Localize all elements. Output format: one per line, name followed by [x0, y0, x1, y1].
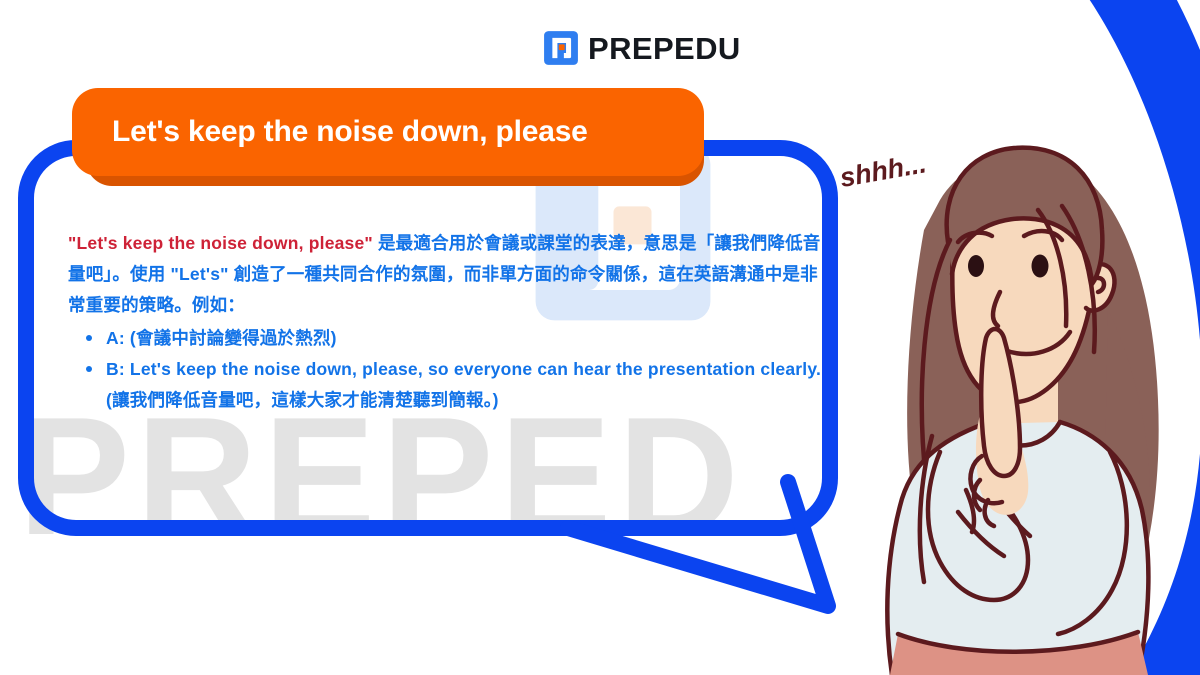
- list-item-text: A: (會議中討論變得過於熱烈): [106, 328, 337, 348]
- headline-banner: Let's keep the noise down, please: [72, 88, 704, 176]
- example-list: A: (會議中討論變得過於熱烈) B: Let's keep the noise…: [68, 323, 828, 416]
- brand-logo-text: PREPEDU: [588, 33, 741, 64]
- list-item: B: Let's keep the noise down, please, so…: [94, 354, 828, 416]
- prepedu-mark-icon: [543, 30, 579, 66]
- headline-text: Let's keep the noise down, please: [72, 117, 588, 147]
- quoted-phrase: "Let's keep the noise down, please": [68, 233, 373, 253]
- speech-bubble-tail: [560, 420, 860, 645]
- slide-canvas: PREPED Let's keep the noise down, please…: [0, 0, 1200, 675]
- list-item-text: B: Let's keep the noise down, please, so…: [106, 359, 821, 410]
- list-item: A: (會議中討論變得過於熱烈): [94, 323, 828, 354]
- bullet-dot-icon: [86, 335, 92, 341]
- brand-logo: PREPEDU: [543, 30, 741, 66]
- explanation-paragraph: "Let's keep the noise down, please" 是最適合…: [68, 228, 828, 321]
- bullet-dot-icon: [86, 366, 92, 372]
- explanation-body: "Let's keep the noise down, please" 是最適合…: [68, 228, 828, 416]
